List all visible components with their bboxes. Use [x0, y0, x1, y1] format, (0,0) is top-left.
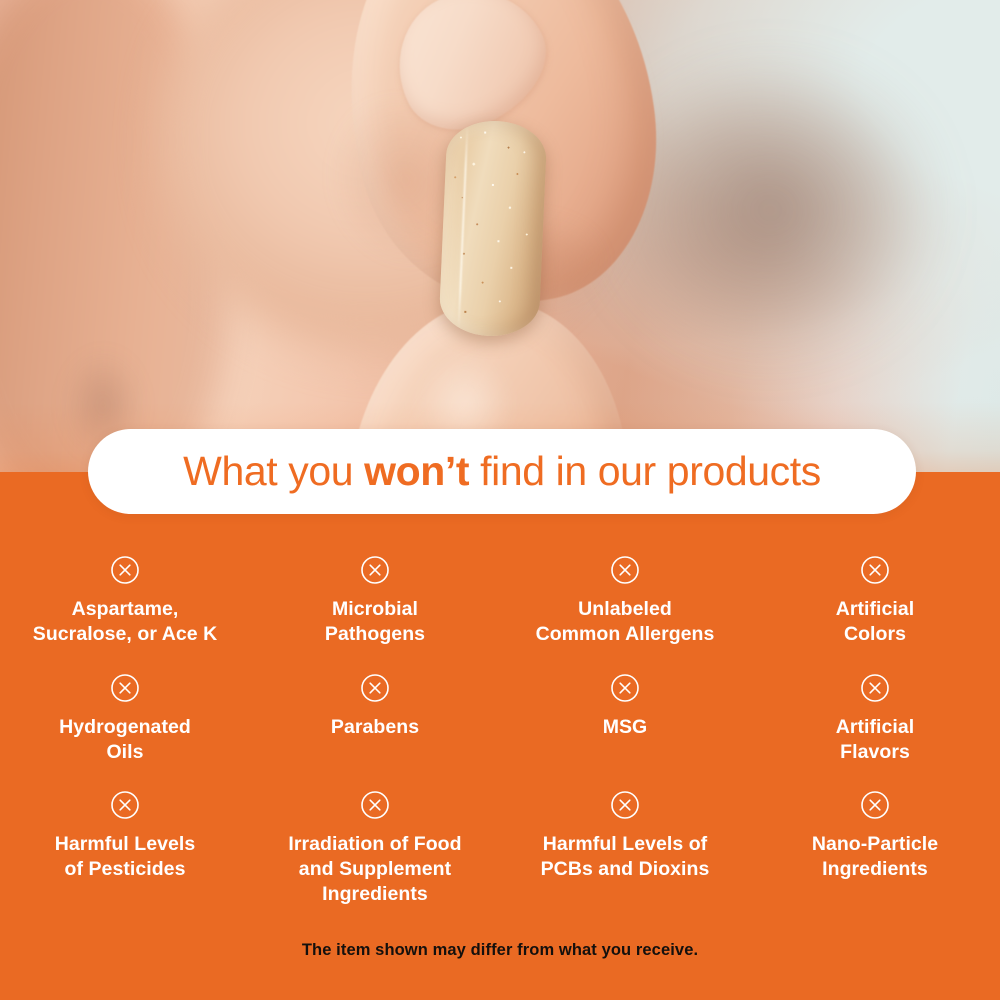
hero-photo-hand-holding-tablet	[0, 0, 1000, 472]
circle-x-icon	[360, 673, 390, 703]
grid-item: Parabens	[250, 658, 500, 775]
grid-item-label: Aspartame, Sucralose, or Ace K	[33, 597, 217, 647]
grid-item-label: Artificial Colors	[836, 597, 915, 647]
grid-item: Unlabeled Common Allergens	[500, 540, 750, 658]
grid-item: Harmful Levels of Pesticides	[0, 775, 250, 905]
page-title-emphasis: won’t	[364, 448, 469, 494]
grid-item: Nano-Particle Ingredients	[750, 775, 1000, 905]
grid-item-label: Harmful Levels of PCBs and Dioxins	[541, 832, 710, 882]
circle-x-icon	[110, 673, 140, 703]
grid-item-label: Microbial Pathogens	[325, 597, 425, 647]
grid-item-label: Parabens	[331, 715, 419, 740]
grid-item: Harmful Levels of PCBs and Dioxins	[500, 775, 750, 905]
circle-x-icon	[860, 673, 890, 703]
circle-x-icon	[610, 673, 640, 703]
grid-item: MSG	[500, 658, 750, 775]
circle-x-icon	[110, 790, 140, 820]
grid-item: Hydrogenated Oils	[0, 658, 250, 775]
grid-item: Microbial Pathogens	[250, 540, 500, 658]
disclaimer-text: The item shown may differ from what you …	[0, 941, 1000, 960]
circle-x-icon	[110, 555, 140, 585]
title-card: What you won’t find in our products	[88, 429, 916, 514]
page-title-prefix: What you	[183, 448, 364, 494]
circle-x-icon	[360, 790, 390, 820]
grid-item-label: Unlabeled Common Allergens	[536, 597, 715, 647]
product-claims-poster: What you won’t find in our products Aspa…	[0, 0, 1000, 1000]
grid-item: Aspartame, Sucralose, or Ace K	[0, 540, 250, 658]
grid-item-label: Nano-Particle Ingredients	[812, 832, 938, 882]
tablet-speckle-texture	[438, 119, 547, 338]
excluded-ingredients-grid: Aspartame, Sucralose, or Ace K Microbial…	[0, 540, 1000, 905]
circle-x-icon	[610, 555, 640, 585]
grid-item-label: Artificial Flavors	[836, 715, 915, 765]
circle-x-icon	[860, 555, 890, 585]
grid-item-label: Hydrogenated Oils	[59, 715, 191, 765]
circle-x-icon	[610, 790, 640, 820]
page-title: What you won’t find in our products	[183, 451, 821, 492]
circle-x-icon	[360, 555, 390, 585]
grid-item-label: Irradiation of Food and Supplement Ingre…	[288, 832, 461, 907]
grid-item-label: MSG	[603, 715, 648, 740]
circle-x-icon	[860, 790, 890, 820]
grid-item: Artificial Colors	[750, 540, 1000, 658]
grid-item: Irradiation of Food and Supplement Ingre…	[250, 775, 500, 905]
grid-item-label: Harmful Levels of Pesticides	[55, 832, 196, 882]
photo-supplement-tablet	[438, 119, 547, 338]
grid-item: Artificial Flavors	[750, 658, 1000, 775]
page-title-suffix: find in our products	[469, 448, 821, 494]
